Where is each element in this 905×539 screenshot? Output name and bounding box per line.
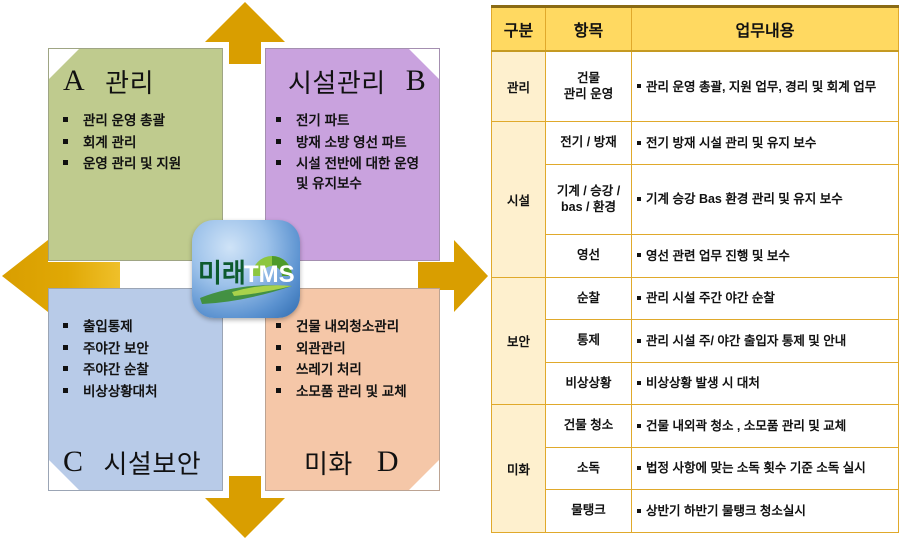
list-item: 건물 내외청소관리 [274, 317, 435, 337]
item-cell: 비상상황 [546, 362, 632, 405]
list-item: 회계 관리 [61, 133, 216, 153]
table-row: 기계 / 승강 /bas / 환경기계 승강 Bas 환경 관리 및 유지 보수 [492, 165, 899, 235]
quadrant-diagram: A 관리 관리 운영 총괄 회계 관리 운영 관리 및 지원 시설관리 B 전기… [0, 0, 480, 539]
duty-table-body: 관리건물관리 운영관리 운영 총괄, 지원 업무, 경리 및 회계 업무시설전기… [492, 51, 899, 533]
quadrant-c[interactable]: 출입통제 주야간 보안 주야간 순찰 비상상황대처 C 시설보안 [48, 288, 223, 491]
group-cell-3: 미화 [492, 405, 546, 533]
bullet-icon [637, 339, 641, 343]
logo-english-text: TMS [244, 261, 295, 288]
quadrant-b-list: 전기 파트 방재 소방 영선 파트 시설 전반에 대한 운영 및 유지보수 [274, 111, 433, 195]
quadrant-c-list: 출입통제 주야간 보안 주야간 순찰 비상상황대처 [61, 317, 216, 403]
description-cell: 관리 시설 주간 야간 순찰 [632, 277, 899, 320]
list-item: 방재 소방 영선 파트 [274, 133, 433, 153]
description-cell: 기계 승강 Bas 환경 관리 및 유지 보수 [632, 165, 899, 235]
list-item: 전기 파트 [274, 111, 433, 131]
table-row: 보안순찰관리 시설 주간 야간 순찰 [492, 277, 899, 320]
bullet-icon [637, 197, 641, 201]
description-cell: 영선 관련 업무 진행 및 보수 [632, 235, 899, 278]
table-row: 비상상황비상상황 발생 시 대처 [492, 362, 899, 405]
table-header-row: 구분 항목 업무내용 [492, 7, 899, 52]
corner-notch [409, 460, 439, 490]
quadrant-c-label: 시설보안 [104, 444, 202, 481]
bullet-icon [637, 141, 641, 145]
duty-table: 구분 항목 업무내용 관리건물관리 운영관리 운영 총괄, 지원 업무, 경리 … [491, 5, 899, 533]
list-item: 주야간 순찰 [61, 360, 216, 380]
list-item: 쓰레기 처리 [274, 360, 435, 380]
table-row: 소독법정 사항에 맞는 소독 횟수 기준 소독 실시 [492, 447, 899, 490]
group-cell-2: 보안 [492, 277, 546, 405]
list-item: 주야간 보안 [61, 339, 216, 359]
quadrant-a-letter: A [63, 64, 85, 98]
group-cell-0: 관리 [492, 51, 546, 122]
list-item: 관리 운영 총괄 [61, 111, 216, 131]
list-item: 외관관리 [274, 339, 435, 359]
list-item: 소모품 관리 및 교체 [274, 382, 435, 402]
col-header-item: 항목 [546, 7, 632, 52]
quadrant-c-title: C 시설보안 [63, 440, 201, 484]
item-cell: 건물관리 운영 [546, 51, 632, 122]
description-cell: 관리 시설 주/ 야간 출입자 통제 및 안내 [632, 320, 899, 363]
item-cell: 건물 청소 [546, 405, 632, 448]
quadrant-d-label: 미화 [304, 444, 353, 481]
description-cell: 건물 내외곽 청소 , 소모품 관리 및 교체 [632, 405, 899, 448]
list-item: 출입통제 [61, 317, 216, 337]
quadrant-d-list: 건물 내외청소관리 외관관리 쓰레기 처리 소모품 관리 및 교체 [274, 317, 435, 403]
description-cell: 상반기 하반기 물탱크 청소실시 [632, 490, 899, 533]
item-cell: 물탱크 [546, 490, 632, 533]
list-item: 비상상황대처 [61, 382, 216, 402]
item-cell: 영선 [546, 235, 632, 278]
item-cell: 통제 [546, 320, 632, 363]
group-cell-1: 시설 [492, 122, 546, 277]
quadrant-d-letter: D [377, 445, 399, 479]
quadrant-b-letter: B [406, 64, 427, 98]
bullet-icon [637, 466, 641, 470]
quadrant-a-title: A 관리 [63, 59, 154, 103]
duty-table-container: 구분 항목 업무내용 관리건물관리 운영관리 운영 총괄, 지원 업무, 경리 … [491, 5, 899, 533]
bullet-icon [637, 381, 641, 385]
bullet-icon [637, 424, 641, 428]
logo-korean-text: 미래 [198, 258, 246, 288]
item-cell: 전기 / 방재 [546, 122, 632, 165]
description-cell: 관리 운영 총괄, 지원 업무, 경리 및 회계 업무 [632, 51, 899, 122]
bullet-icon [637, 253, 641, 257]
bullet-icon [637, 84, 641, 88]
company-logo[interactable]: 미래 TMS [192, 220, 300, 318]
col-header-desc: 업무내용 [632, 7, 899, 52]
table-row: 영선영선 관련 업무 진행 및 보수 [492, 235, 899, 278]
item-cell: 기계 / 승강 /bas / 환경 [546, 165, 632, 235]
item-cell: 소독 [546, 447, 632, 490]
quadrant-a-label: 관리 [105, 63, 154, 100]
description-cell: 법정 사항에 맞는 소독 횟수 기준 소독 실시 [632, 447, 899, 490]
quadrant-a-list: 관리 운영 총괄 회계 관리 운영 관리 및 지원 [61, 111, 216, 176]
col-header-group: 구분 [492, 7, 546, 52]
table-row: 물탱크상반기 하반기 물탱크 청소실시 [492, 490, 899, 533]
table-row: 관리건물관리 운영관리 운영 총괄, 지원 업무, 경리 및 회계 업무 [492, 51, 899, 122]
quadrant-d[interactable]: 건물 내외청소관리 외관관리 쓰레기 처리 소모품 관리 및 교체 미화 D [265, 288, 440, 491]
list-item: 운영 관리 및 지원 [61, 154, 216, 174]
bullet-icon [637, 509, 641, 513]
quadrant-b-title: 시설관리 B [288, 59, 426, 103]
item-cell: 순찰 [546, 277, 632, 320]
description-cell: 전기 방재 시설 관리 및 유지 보수 [632, 122, 899, 165]
quadrant-b-label: 시설관리 [288, 63, 386, 100]
table-row: 시설전기 / 방재전기 방재 시설 관리 및 유지 보수 [492, 122, 899, 165]
quadrant-c-letter: C [63, 445, 84, 479]
quadrant-d-title: 미화 D [304, 440, 399, 484]
table-row: 통제관리 시설 주/ 야간 출입자 통제 및 안내 [492, 320, 899, 363]
description-cell: 비상상황 발생 시 대처 [632, 362, 899, 405]
table-row: 미화건물 청소건물 내외곽 청소 , 소모품 관리 및 교체 [492, 405, 899, 448]
list-item: 시설 전반에 대한 운영 및 유지보수 [274, 154, 433, 193]
bullet-icon [637, 296, 641, 300]
